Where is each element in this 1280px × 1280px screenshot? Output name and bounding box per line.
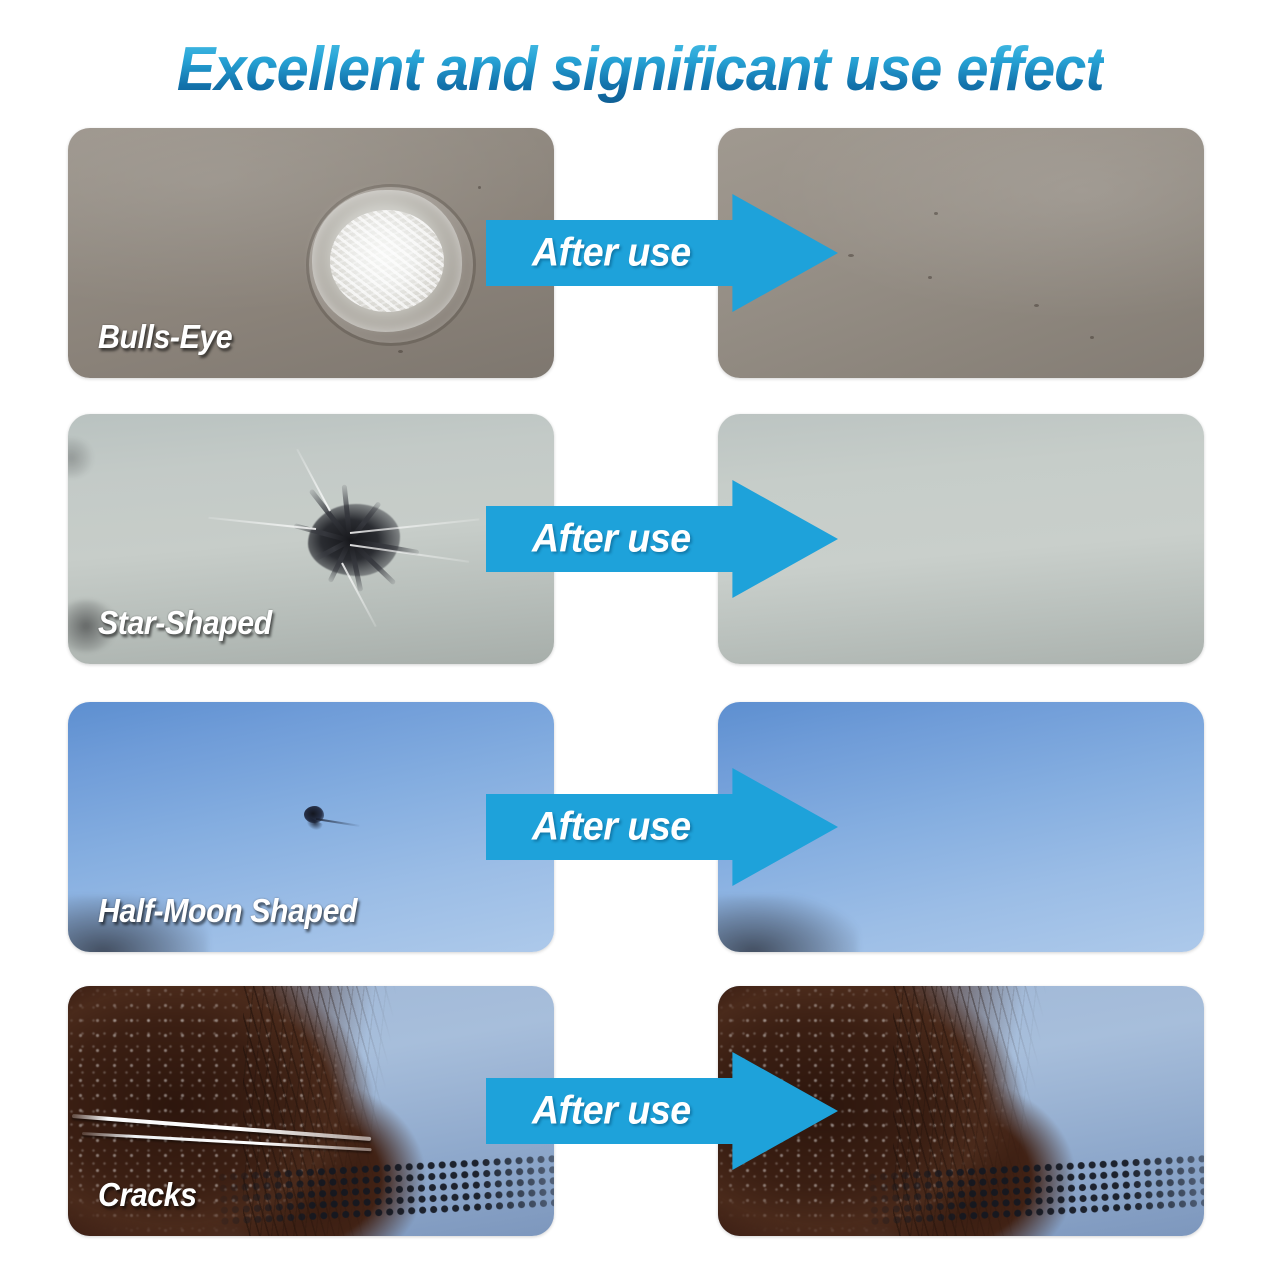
after-panel-cracks [718,986,1204,1236]
glass-surface [718,128,1204,378]
glass-speck [478,186,481,189]
arrow-label: After use [532,231,691,276]
after-panel-half-moon [718,702,1204,952]
before-panel-half-moon: Half-Moon Shaped [68,702,554,952]
bulls-eye-damage [312,190,462,332]
arrow-label: After use [532,517,691,562]
page-title: Excellent and significant use effect [0,34,1280,105]
page-title-text: Excellent and significant use effect [177,34,1104,105]
arrow-label: After use [532,1089,691,1134]
glass-speck [1034,304,1039,307]
glass-speck [934,212,938,215]
arrow-label: After use [532,805,691,850]
row-caption: Cracks [98,1176,197,1214]
before-panel-bulls-eye: Bulls-Eye [68,128,554,378]
glass-surface [718,414,1204,664]
comparison-row-cracks: Cracks After use [0,986,1280,1236]
comparison-row-star-shaped: Star-Shaped After use [0,414,1280,664]
row-caption: Bulls-Eye [98,318,232,356]
glass-speck [1090,336,1094,339]
after-panel-bulls-eye [718,128,1204,378]
half-moon-damage [300,804,334,834]
before-panel-cracks: Cracks [68,986,554,1236]
glass-speck [928,276,932,279]
glass-speck [398,350,403,353]
row-caption: Star-Shaped [98,604,272,642]
row-caption: Half-Moon Shaped [98,892,357,930]
comparison-row-bulls-eye: Bulls-Eye After use [0,128,1280,378]
after-panel-star-shaped [718,414,1204,664]
before-panel-star-shaped: Star-Shaped [68,414,554,664]
comparison-row-half-moon: Half-Moon Shaped After use [0,702,1280,952]
glass-speck [848,254,854,257]
foliage-reflection [718,896,858,952]
star-shaped-damage [246,466,476,616]
